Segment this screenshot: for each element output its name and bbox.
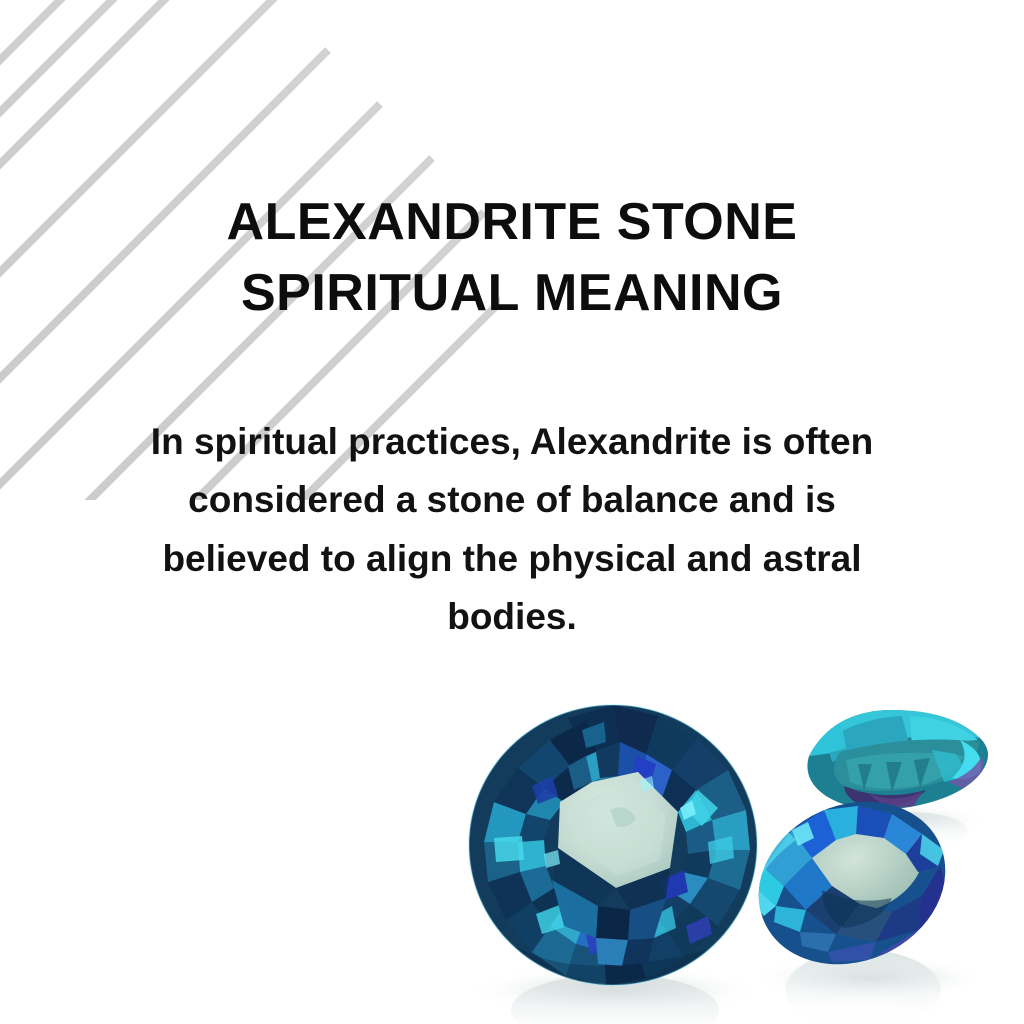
small-side-view-gem [790, 700, 1010, 820]
page-title-line-1: ALEXANDRITE STONE [0, 187, 1024, 258]
large-round-brilliant-gem [460, 700, 770, 1000]
page-title-line-2: SPIRITUAL MEANING [0, 258, 1024, 329]
page-title: ALEXANDRITE STONE SPIRITUAL MEANING [0, 187, 1024, 328]
body-paragraph: In spiritual practices, Alexandrite is o… [112, 413, 912, 647]
alexandrite-gemstones-photo [440, 690, 1024, 1024]
poster-canvas: ALEXANDRITE STONE SPIRITUAL MEANING In s… [0, 0, 1024, 1024]
